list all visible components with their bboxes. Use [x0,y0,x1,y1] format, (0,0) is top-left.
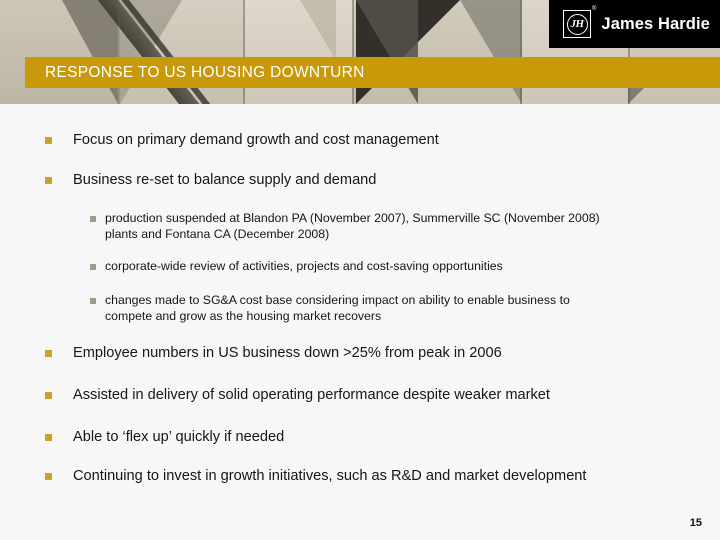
bullet-marker-icon [90,216,96,222]
bullet-text: Business re-set to balance supply and de… [73,171,376,190]
jh-monogram-icon: JH [563,10,591,38]
brand-name-label: James Hardie [601,15,710,34]
jh-monogram-circle: JH [567,14,588,35]
facade-dark-triangle [460,0,522,104]
bullet-text: changes made to SG&A cost base consideri… [105,293,620,324]
panel-seam [520,0,522,104]
bullet-item-level-1: Employee numbers in US business down >25… [45,344,665,363]
bullet-marker-icon [45,137,52,144]
panel-seam [243,0,245,104]
bullet-item-level-1: Able to ‘flex up’ quickly if needed [45,428,645,447]
bullet-item-level-2: changes made to SG&A cost base consideri… [90,293,620,324]
bullet-item-level-1: Assisted in delivery of solid operating … [45,386,675,405]
bullet-text: Employee numbers in US business down >25… [73,344,502,363]
panel-seam [352,0,354,104]
bullet-text: Focus on primary demand growth and cost … [73,131,439,150]
bullet-marker-icon [45,350,52,357]
bullet-marker-icon [90,264,96,270]
facade-dark-triangle [356,0,418,104]
jh-monogram-label: JH [570,19,583,30]
slide-body: Focus on primary demand growth and cost … [0,104,720,540]
bullet-item-level-2: production suspended at Blandon PA (Nove… [90,211,620,242]
bullet-item-level-1: Focus on primary demand growth and cost … [45,131,645,150]
registered-trademark-icon: ® [592,6,596,12]
facade-shadow-wedge [300,0,336,60]
james-hardie-logo: JH ® James Hardie [549,0,720,48]
bullet-text: Continuing to invest in growth initiativ… [73,467,586,486]
bullet-text: corporate-wide review of activities, pro… [105,259,503,275]
panel-seam [118,0,120,104]
bullet-marker-icon [45,434,52,441]
slide-title-bar: RESPONSE TO US HOUSING DOWNTURN [25,57,720,88]
bullet-marker-icon [45,177,52,184]
bullet-marker-icon [45,473,52,480]
bullet-marker-icon [90,298,96,304]
page-title: RESPONSE TO US HOUSING DOWNTURN [45,64,365,82]
bullet-item-level-2: corporate-wide review of activities, pro… [90,259,620,275]
bullet-text: Assisted in delivery of solid operating … [73,386,550,405]
bullet-item-level-1: Business re-set to balance supply and de… [45,171,645,190]
bullet-marker-icon [45,392,52,399]
bullet-text: Able to ‘flex up’ quickly if needed [73,428,284,447]
bullet-item-level-1: Continuing to invest in growth initiativ… [45,467,600,486]
slide-page-number: 15 [690,517,702,529]
bullet-text: production suspended at Blandon PA (Nove… [105,211,620,242]
